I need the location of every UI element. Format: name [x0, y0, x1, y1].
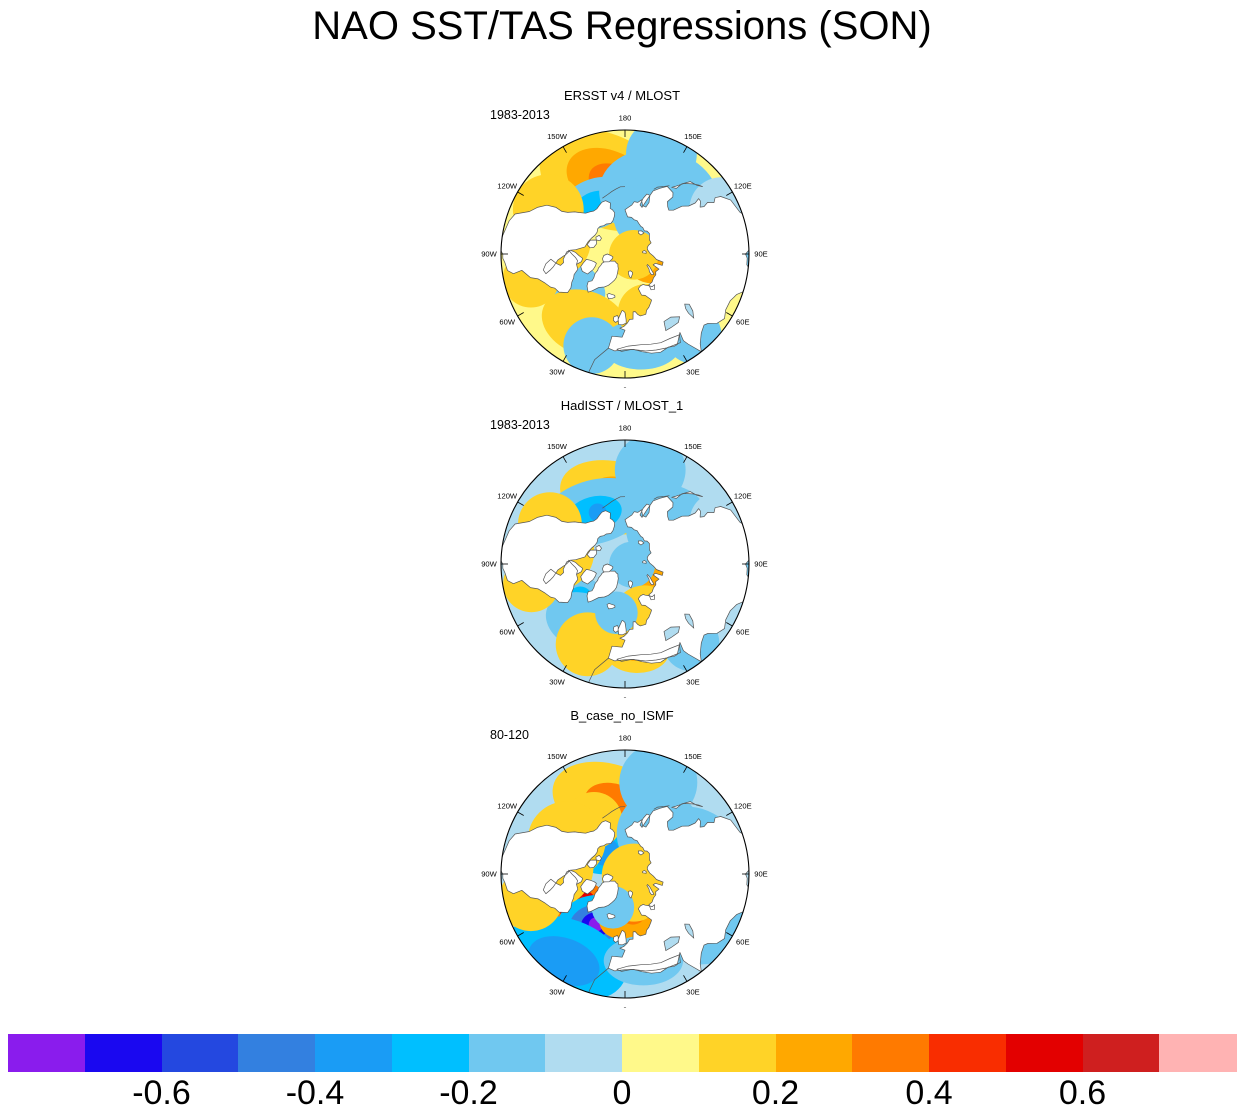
colorbar-band	[852, 1034, 929, 1072]
colorbar-tick-label: 0.2	[752, 1074, 799, 1113]
longitude-label: 90W	[481, 870, 497, 879]
longitude-label: 60E	[736, 938, 750, 947]
colorbar: -0.6-0.4-0.200.20.40.6	[0, 1034, 1244, 1116]
colorbar-band	[238, 1034, 315, 1072]
colorbar-band	[315, 1034, 392, 1072]
figure-title: NAO SST/TAS Regressions (SON)	[0, 4, 1244, 49]
colorbar-band	[469, 1034, 546, 1072]
longitude-label: 60W	[499, 628, 515, 637]
colorbar-band	[85, 1034, 162, 1072]
polar-map: 030E60E90E120E150E180150W120W90W60W30W	[372, 708, 872, 1008]
colorbar-band	[699, 1034, 776, 1072]
colorbar-band	[929, 1034, 1006, 1072]
longitude-label: 180	[619, 734, 632, 743]
anomaly-contour-patch	[615, 435, 686, 506]
longitude-label: 90E	[754, 870, 768, 879]
longitude-label: 60W	[499, 318, 515, 327]
longitude-label: 30W	[549, 367, 565, 376]
map-content	[498, 109, 777, 388]
longitude-label: 120W	[497, 492, 518, 501]
colorbar-band	[392, 1034, 469, 1072]
landmass	[613, 936, 618, 943]
colorbar-band	[622, 1034, 699, 1072]
longitude-label: 150W	[547, 442, 568, 451]
figure-root: NAO SST/TAS Regressions (SON) ERSST v4 /…	[0, 0, 1244, 1116]
longitude-label: 120E	[734, 182, 752, 191]
longitude-label: 0	[623, 386, 627, 388]
longitude-label: 30W	[549, 987, 565, 996]
longitude-label: 120E	[734, 802, 752, 811]
longitude-label: 0	[623, 1006, 627, 1008]
longitude-label: 120W	[497, 802, 518, 811]
longitude-label: 30E	[686, 987, 700, 996]
colorbar-tick-labels: -0.6-0.4-0.200.20.40.6	[0, 1074, 1244, 1116]
longitude-label: 90W	[481, 250, 497, 259]
longitude-label: 30W	[549, 677, 565, 686]
polar-map: 030E60E90E120E150E180150W120W90W60W30W	[372, 88, 872, 388]
longitude-label: 150E	[684, 752, 702, 761]
longitude-label: 0	[623, 696, 627, 698]
longitude-label: 180	[619, 424, 632, 433]
landmass	[613, 316, 618, 323]
landmass	[643, 871, 647, 874]
longitude-label: 90E	[754, 250, 768, 259]
landmass	[643, 561, 647, 564]
polar-stereographic-map: 030E60E90E120E150E180150W120W90W60W30W	[372, 88, 872, 388]
longitude-label: 90W	[481, 560, 497, 569]
colorbar-band	[1159, 1034, 1236, 1072]
anomaly-contour-patch	[626, 119, 697, 190]
colorbar-tick-label: -0.2	[439, 1074, 498, 1113]
map-content	[494, 743, 777, 1008]
colorbar-tick-label: 0	[613, 1074, 632, 1113]
longitude-label: 60E	[736, 628, 750, 637]
landmass	[643, 251, 647, 254]
colorbar-tick-label: -0.6	[132, 1074, 191, 1113]
colorbar-band	[1006, 1034, 1083, 1072]
longitude-label: 150W	[547, 752, 568, 761]
longitude-label: 60W	[499, 938, 515, 947]
longitude-label: 120E	[734, 492, 752, 501]
longitude-label: 150W	[547, 132, 568, 141]
colorbar-band	[545, 1034, 622, 1072]
longitude-label: 180	[619, 114, 632, 123]
longitude-label: 30E	[686, 367, 700, 376]
polar-map: 030E60E90E120E150E180150W120W90W60W30W	[372, 398, 872, 698]
colorbar-band	[776, 1034, 853, 1072]
longitude-label: 90E	[754, 560, 768, 569]
colorbar-tick-label: -0.4	[286, 1074, 345, 1113]
longitude-label: 120W	[497, 182, 518, 191]
polar-stereographic-map: 030E60E90E120E150E180150W120W90W60W30W	[372, 398, 872, 698]
landmass	[613, 626, 618, 633]
colorbar-tick-label: 0.4	[905, 1074, 952, 1113]
longitude-label: 30E	[686, 677, 700, 686]
longitude-label: 150E	[684, 442, 702, 451]
polar-stereographic-map: 030E60E90E120E150E180150W120W90W60W30W	[372, 708, 872, 1008]
colorbar-band	[162, 1034, 239, 1072]
colorbar-band	[1083, 1034, 1160, 1072]
longitude-label: 60E	[736, 318, 750, 327]
longitude-label: 150E	[684, 132, 702, 141]
colorbar-tick-label: 0.6	[1059, 1074, 1106, 1113]
colorbar-band	[8, 1034, 85, 1072]
